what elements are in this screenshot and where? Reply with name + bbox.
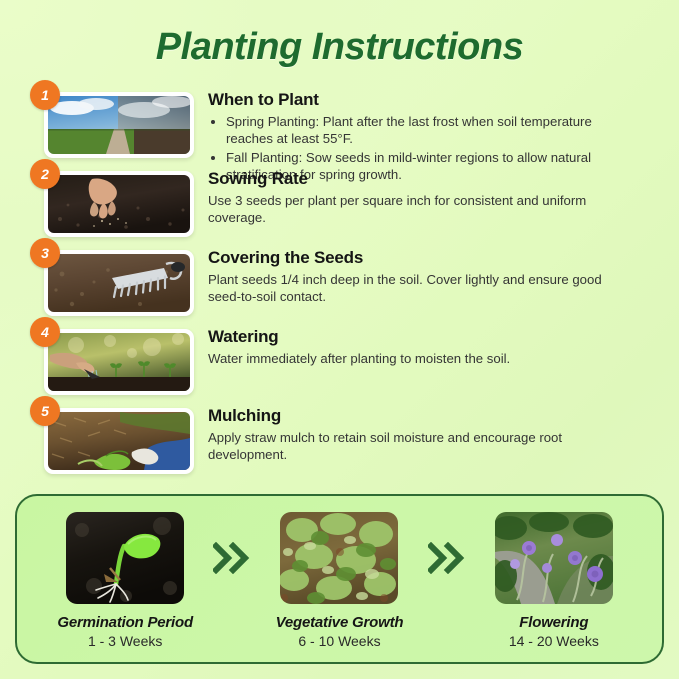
- timeline-stage-3-label: Flowering: [470, 614, 638, 631]
- step-1-bullet-1: Spring Planting: Plant after the last fr…: [226, 113, 628, 148]
- step-5-heading: Mulching: [208, 406, 628, 426]
- step-1-number-badge: 1: [30, 80, 60, 110]
- step-3-heading: Covering the Seeds: [208, 248, 628, 268]
- timeline-stage-2-weeks: 6 - 10 Weeks: [255, 633, 423, 649]
- step-4-heading: Watering: [208, 327, 628, 347]
- step-2-image: [48, 175, 190, 233]
- step-5-image: [48, 412, 190, 470]
- step-2-thumbnail-wrap: 2: [44, 171, 194, 237]
- step-3-image: [48, 254, 190, 312]
- timeline-stage-2-label: Vegetative Growth: [255, 614, 423, 631]
- step-4-text: Watering Water immediately after plantin…: [208, 327, 628, 367]
- double-chevron-right-icon-1: [209, 542, 255, 574]
- timeline-stage-1-label: Germination Period: [41, 614, 209, 631]
- step-3-thumbnail-wrap: 3: [44, 250, 194, 316]
- step-5-thumbnail-card: 5: [44, 408, 194, 474]
- step-3-thumbnail-card: 3: [44, 250, 194, 316]
- step-2-heading: Sowing Rate: [208, 169, 628, 189]
- page-title: Planting Instructions: [0, 26, 679, 69]
- planting-instructions-infographic: Planting Instructions 1: [0, 0, 679, 679]
- step-5-body: Apply straw mulch to retain soil moistur…: [208, 429, 628, 464]
- step-1-thumbnail-card: 1: [44, 92, 194, 158]
- timeline-stage-flowering: Flowering 14 - 20 Weeks: [470, 512, 638, 649]
- step-2-number-badge: 2: [30, 159, 60, 189]
- double-chevron-right-icon-2: [424, 542, 470, 574]
- timeline-stage-1-image: [66, 512, 184, 604]
- step-4-number-badge: 4: [30, 317, 60, 347]
- step-3-text: Covering the Seeds Plant seeds 1/4 inch …: [208, 248, 628, 306]
- step-4-thumbnail-wrap: 4: [44, 329, 194, 395]
- timeline-stage-1-weeks: 1 - 3 Weeks: [41, 633, 209, 649]
- timeline-stage-3-image: [495, 512, 613, 604]
- step-2-thumbnail-card: 2: [44, 171, 194, 237]
- step-4-body: Water immediately after planting to mois…: [208, 350, 628, 367]
- step-4-image: [48, 333, 190, 391]
- step-5-thumbnail-wrap: 5: [44, 408, 194, 474]
- timeline-stage-germination: Germination Period 1 - 3 Weeks: [41, 512, 209, 649]
- step-3-number-badge: 3: [30, 238, 60, 268]
- timeline-stage-2-image: [280, 512, 398, 604]
- step-1-image: [48, 96, 190, 154]
- step-5-number-badge: 5: [30, 396, 60, 426]
- step-5-text: Mulching Apply straw mulch to retain soi…: [208, 406, 628, 464]
- timeline-stage-3-weeks: 14 - 20 Weeks: [470, 633, 638, 649]
- step-1-thumbnail-wrap: 1: [44, 92, 194, 158]
- growth-timeline-panel: Germination Period 1 - 3 Weeks: [15, 494, 664, 664]
- step-1-heading: When to Plant: [208, 90, 628, 110]
- step-4-thumbnail-card: 4: [44, 329, 194, 395]
- timeline-stage-vegetative: Vegetative Growth 6 - 10 Weeks: [255, 512, 423, 649]
- step-2-body: Use 3 seeds per plant per square inch fo…: [208, 192, 628, 227]
- step-3-body: Plant seeds 1/4 inch deep in the soil. C…: [208, 271, 628, 306]
- step-2-text: Sowing Rate Use 3 seeds per plant per sq…: [208, 169, 628, 227]
